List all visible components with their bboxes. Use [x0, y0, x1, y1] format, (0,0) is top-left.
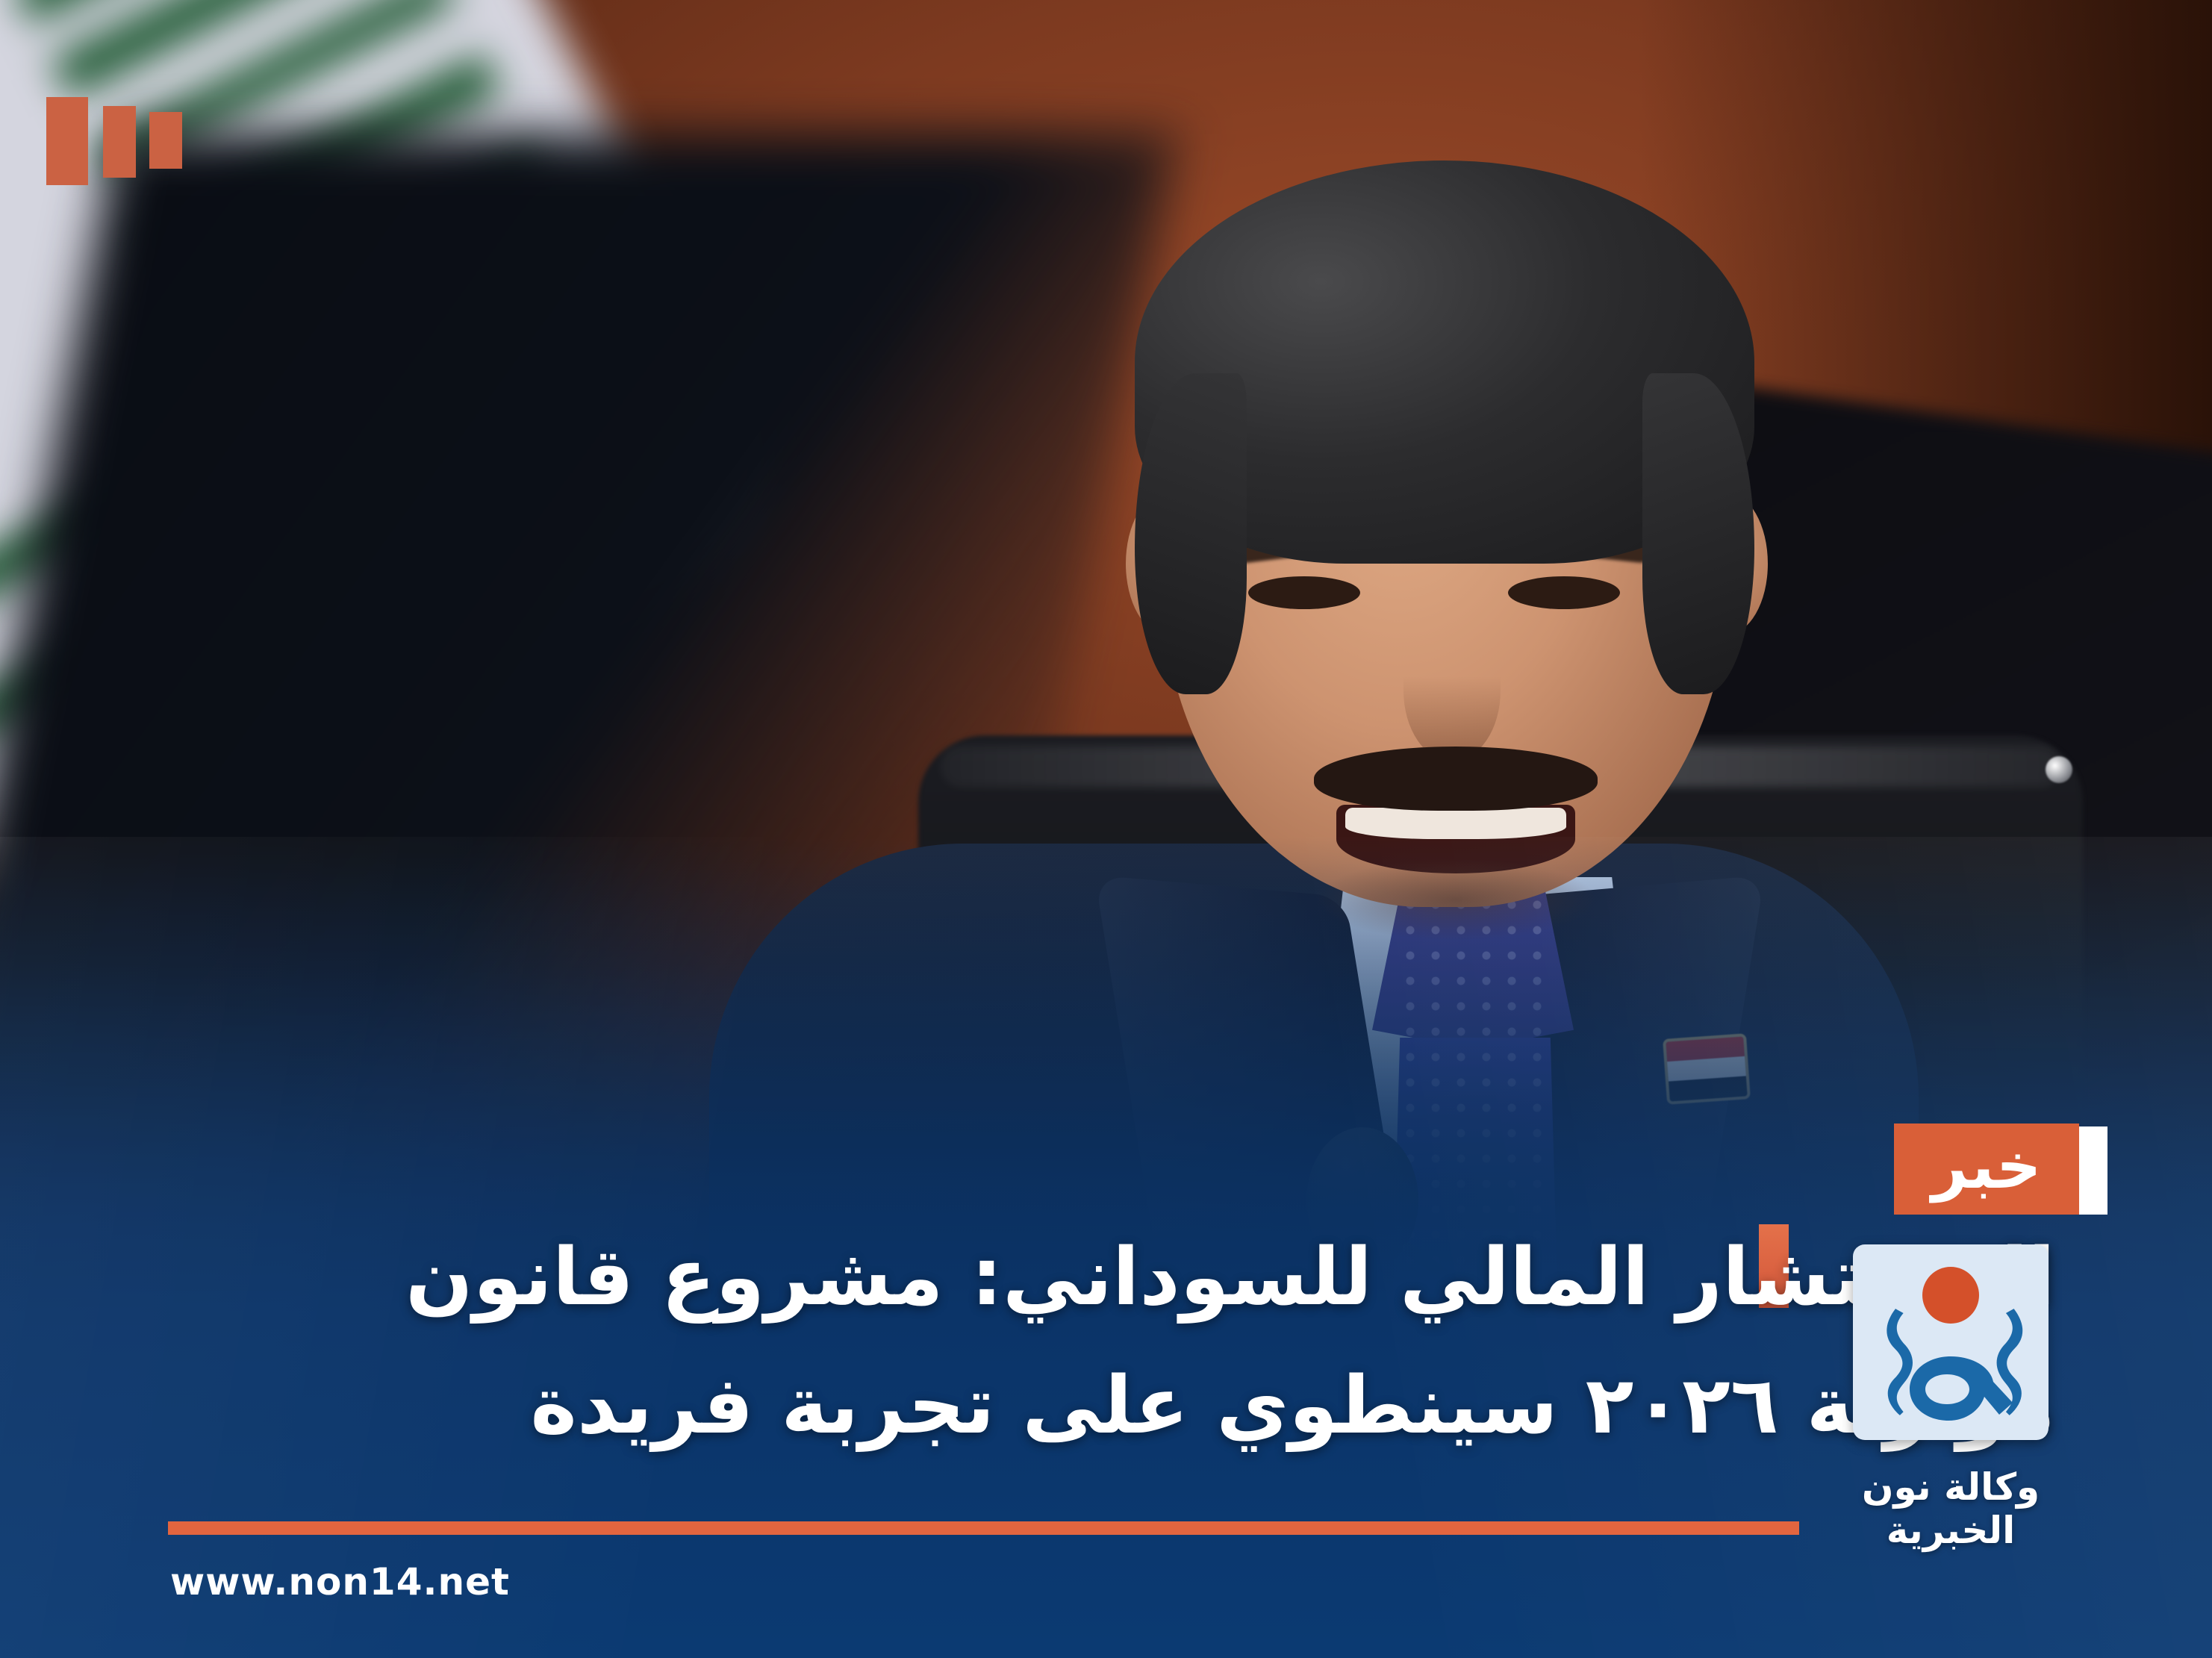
three-bars-mark-icon — [46, 97, 196, 185]
news-badge-row: خبر — [1794, 1123, 2107, 1215]
mark-bar-3 — [149, 112, 182, 169]
brand-column: خبر وكالة نون الخبرية — [1794, 1123, 2107, 1552]
mark-bar-2 — [103, 106, 136, 178]
divider-rule — [168, 1521, 1799, 1535]
mark-bar-1 — [46, 97, 88, 185]
news-badge: خبر — [1894, 1123, 2079, 1215]
news-badge-tick — [2079, 1126, 2107, 1215]
noon-agency-logo-icon[interactable] — [1853, 1244, 2049, 1440]
news-card: المستشار المالي للسوداني: مشروع قانون مو… — [0, 0, 2212, 1658]
website-url[interactable]: www.non14.net — [170, 1560, 510, 1604]
news-badge-label: خبر — [1931, 1135, 2041, 1197]
agency-name: وكالة نون الخبرية — [1794, 1465, 2107, 1552]
